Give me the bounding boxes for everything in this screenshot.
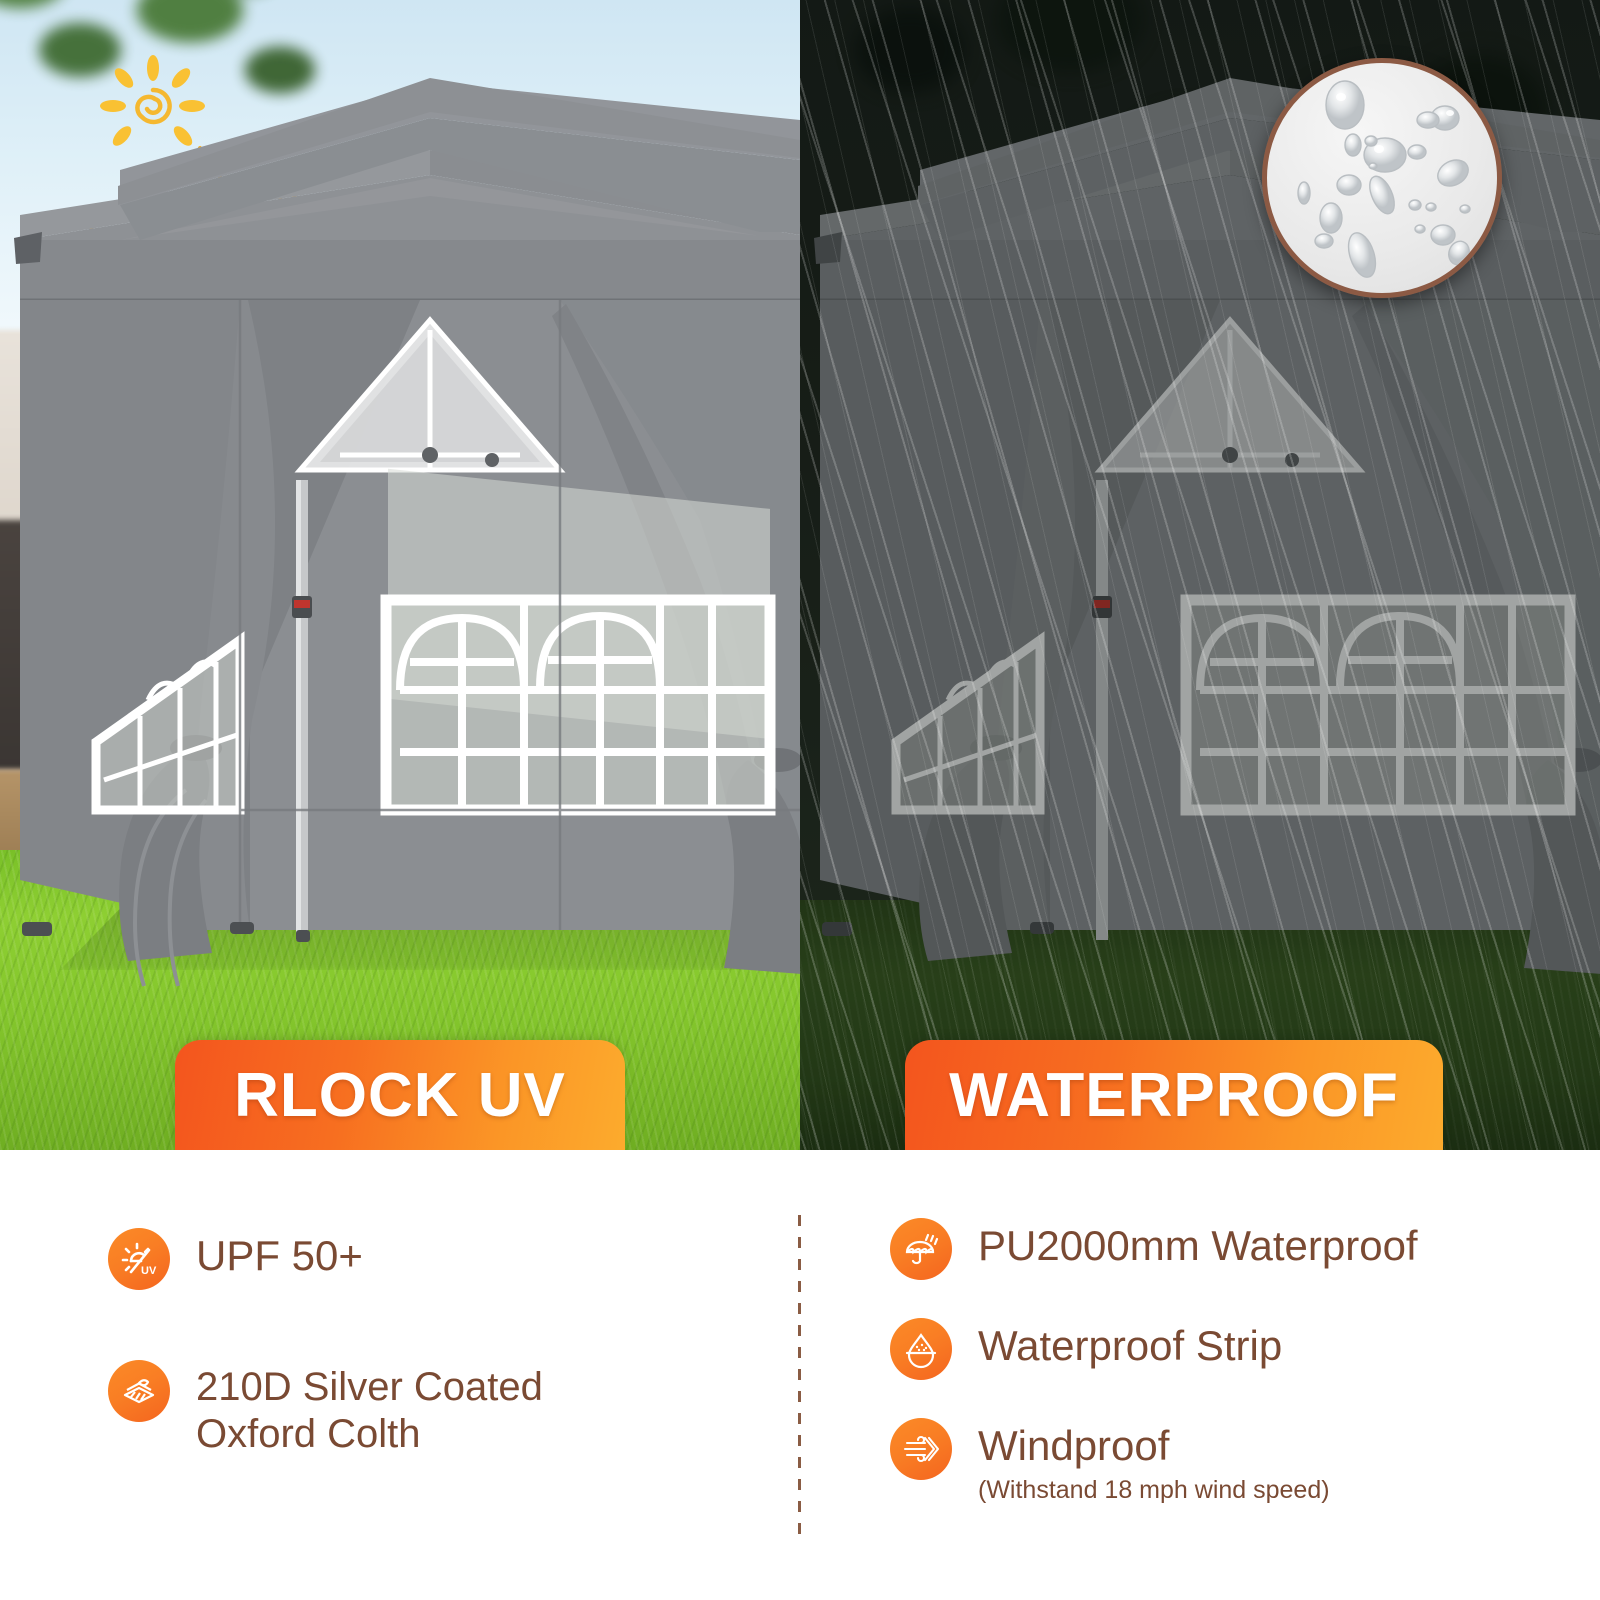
fabric-layers-icon [108,1360,170,1422]
feature-pu2000mm-label: PU2000mm Waterproof [978,1218,1418,1270]
feature-windproof-title: Windproof [978,1422,1169,1469]
feature-pu2000mm: PU2000mm Waterproof [890,1218,1550,1280]
banner-waterproof-label: WATERPROOF [949,1060,1399,1131]
features-column-left: UV UPF 50+ 2 [108,1228,768,1492]
feature-windproof-label: Windproof (Withstand 18 mph wind speed) [978,1418,1330,1504]
feature-waterproof-strip: Waterproof Strip [890,1318,1550,1380]
svg-text:UV: UV [141,1265,157,1277]
windproof-icon [890,1418,952,1480]
umbrella-rain-icon [890,1218,952,1280]
feature-oxford-cloth-label: 210D Silver Coated Oxford Colth [196,1360,543,1458]
product-infographic: RLOCK UV [0,0,1600,1600]
feature-oxford-cloth: 210D Silver Coated Oxford Colth [108,1360,768,1458]
waterproof-strip-icon [890,1318,952,1380]
banner-uv-label: RLOCK UV [234,1060,566,1131]
vertical-dashed-divider [798,1215,801,1545]
feature-windproof: Windproof (Withstand 18 mph wind speed) [890,1418,1550,1504]
canopy-tent-sunny [0,0,800,1150]
feature-windproof-sublabel: (Withstand 18 mph wind speed) [978,1476,1330,1505]
comparison-photo-section: RLOCK UV [0,0,1600,1150]
feature-upf: UV UPF 50+ [108,1228,768,1290]
feature-upf-label: UPF 50+ [196,1228,363,1280]
panel-sunny: RLOCK UV [0,0,800,1150]
banner-waterproof: WATERPROOF [905,1040,1443,1150]
feature-oxford-line1: 210D Silver Coated [196,1365,543,1409]
feature-waterproof-strip-label: Waterproof Strip [978,1318,1282,1370]
water-droplet-circle-icon [1262,58,1502,298]
feature-oxford-line2: Oxford Colth [196,1412,421,1456]
features-section: UV UPF 50+ 2 [0,1150,1600,1600]
features-column-right: PU2000mm Waterproof [890,1218,1550,1538]
uv-sun-icon: UV [108,1228,170,1290]
banner-rlock-uv: RLOCK UV [175,1040,625,1150]
